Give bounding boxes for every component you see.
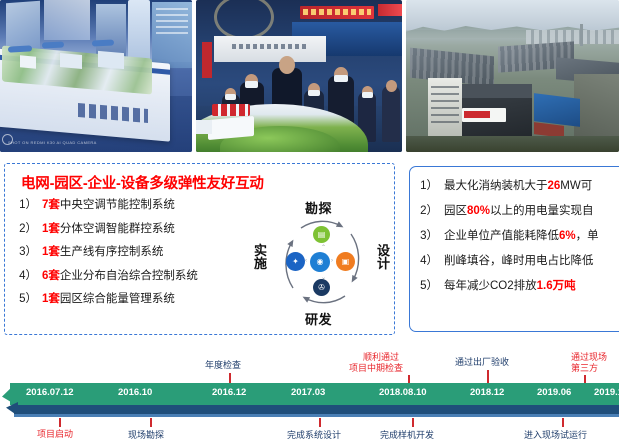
- timeline-below-label: 进入现场试运行: [524, 430, 587, 441]
- photo3-sky: [406, 0, 619, 30]
- briefcase-icon: ▣: [342, 258, 350, 266]
- document-icon: ▤: [318, 231, 326, 239]
- photo3-main-plant-rooftop: [450, 84, 532, 98]
- photo1-label-arm-3: [92, 39, 114, 46]
- list-item-number: 1）: [13, 196, 42, 212]
- hub-icon: ◉: [317, 258, 324, 266]
- photo-aerial-industrial-park: [406, 0, 619, 152]
- photo2-person-3-head: [279, 56, 295, 74]
- list-item-quantity: 7套: [42, 196, 60, 212]
- photo1-watermark-text: SHOT ON REDMI K30 AI QUAD CAMERA: [8, 140, 97, 146]
- list-item: 4） 削峰填谷，峰时用电占比降低: [416, 252, 619, 268]
- list-item: 2） 1套 分体空调智能群控系统: [13, 220, 259, 236]
- timeline-tick-down: [150, 418, 152, 427]
- timeline-tick-up: [487, 370, 489, 383]
- timeline-date: 2016.12: [212, 387, 246, 398]
- photo1-model-building-2: [60, 53, 82, 69]
- photo2-model-tanks: [212, 104, 250, 116]
- list-item: 2） 园区 80% 以上的用电量实现自: [416, 202, 619, 218]
- list-item-text: 中央空调节能控制系统: [60, 196, 175, 212]
- list-item-number: 4）: [13, 267, 42, 283]
- process-cycle-diagram: ▤ ✦ ◉ ▣ ✇ ⌃ ⌄ ‹ › 勘探 设计 研发 实施: [253, 198, 391, 328]
- photo-exhibition-hall-scale-model: SHOT ON REDMI K30 AI QUAD CAMERA: [0, 0, 192, 152]
- cycle-label-develop: 研发: [305, 309, 332, 328]
- cycle-label-survey: 勘探: [305, 198, 332, 217]
- photo1-display-panel-b: [44, 0, 90, 40]
- project-timeline: 2016.07.12 2016.10 2016.12 2017.03 2018.…: [0, 340, 619, 444]
- list-item-highlight: 26: [548, 180, 561, 192]
- left-content-panel: 电网-园区-企业-设备多级弹性友好互动 1） 7套 中央空调节能控制系统 2） …: [4, 163, 395, 335]
- timeline-tick-up: [408, 375, 410, 383]
- list-item-number: 5）: [416, 277, 444, 293]
- timeline-above-label: 顺利通过: [363, 352, 399, 363]
- list-item-quantity: 1套: [42, 220, 60, 236]
- timeline-date: 2019.06: [537, 387, 571, 398]
- photo2-person-5-mask: [334, 75, 348, 82]
- list-item-quantity: 1套: [42, 243, 60, 259]
- gear-icon: ✇: [318, 284, 325, 292]
- timeline-date: 2016.07.12: [26, 387, 74, 398]
- list-item-text-pre: 最大化消纳装机大于: [444, 177, 548, 193]
- photo2-red-banner-text: [303, 9, 371, 15]
- photo2-white-wall: [214, 36, 326, 62]
- list-item-highlight: 1.6万吨: [537, 277, 576, 293]
- photo2-person-7-head: [386, 80, 397, 92]
- timeline-below-label: 项目启动: [37, 429, 73, 440]
- photo2-model-building-2: [196, 120, 212, 134]
- connector-arrow-right: ›: [331, 258, 333, 264]
- timeline-date: 2019.1: [594, 387, 619, 398]
- list-item: 3） 1套 生产线有序控制系统: [13, 243, 259, 259]
- list-item: 5） 1套 园区综合能量管理系统: [13, 290, 259, 306]
- photo2-person-6-mask: [362, 92, 373, 98]
- timeline-tick-down: [562, 418, 564, 427]
- list-item: 5） 每年减少CO2排放 1.6万吨: [416, 277, 619, 293]
- timeline-above-label: 通过现场: [571, 352, 607, 363]
- timeline-tick-up: [229, 373, 231, 383]
- list-item-text: 生产线有序控制系统: [60, 243, 164, 259]
- timeline-above-label-line2: 项目中期检查: [349, 363, 403, 374]
- tool-icon: ✦: [292, 258, 299, 266]
- list-item-text-pre: 每年减少CO2排放: [444, 277, 537, 293]
- develop-node-icon: ✇: [313, 279, 330, 296]
- cycle-label-design: 设计: [377, 244, 390, 270]
- photo2-person-2-mask: [245, 81, 258, 88]
- timeline-tick-down: [59, 418, 61, 427]
- photo3-blue-warehouse: [534, 93, 580, 127]
- list-item: 1） 最大化消纳装机大于 26 MW可: [416, 177, 619, 193]
- photo3-chimney: [580, 24, 583, 46]
- hub-node-icon: ◉: [310, 252, 330, 272]
- list-item-text-post: 以上的用电量实现自: [490, 202, 594, 218]
- list-item-number: 2）: [13, 220, 42, 236]
- list-item-number: 3）: [416, 227, 444, 243]
- timeline-above-label-line2: 第三方: [571, 363, 598, 374]
- list-item-number: 3）: [13, 243, 42, 259]
- timeline-shadow-highlight: [14, 414, 619, 417]
- photo1-info-board-text: [156, 8, 188, 38]
- survey-node-icon: ▤: [313, 226, 330, 243]
- right-content-panel: 1） 最大化消纳装机大于 26 MW可 2） 园区 80% 以上的用电量实现自 …: [409, 166, 619, 332]
- connector-arrow-left: ‹: [305, 258, 307, 264]
- photo2-person-7: [382, 86, 400, 142]
- list-item-number: 1）: [416, 177, 444, 193]
- photo1-label-arm-1: [8, 45, 32, 52]
- photo2-red-panel: [202, 42, 212, 78]
- photo1-model-building-3: [98, 51, 124, 69]
- list-item: 4） 6套 企业分布自治综合控制系统: [13, 267, 259, 283]
- photo2-model-building: [208, 116, 254, 140]
- photo3-access-road: [574, 74, 619, 136]
- list-item-text-post: ，单: [576, 227, 599, 243]
- list-item-highlight: 6%: [559, 230, 576, 242]
- timeline-tick-down: [412, 418, 414, 427]
- timeline-below-label: 现场勘探: [128, 430, 164, 441]
- implement-node-icon: ✦: [286, 252, 305, 271]
- photo3-foreground-vegetation: [406, 136, 619, 152]
- photo-officials-inspecting-exhibit: [196, 0, 402, 152]
- photo2-red-banner-secondary: [378, 4, 402, 16]
- list-item-number: 2）: [416, 202, 444, 218]
- left-panel-list: 1） 7套 中央空调节能控制系统 2） 1套 分体空调智能群控系统 3） 1套 …: [13, 196, 259, 314]
- list-item-text-pre: 园区: [444, 202, 467, 218]
- photo-strip: SHOT ON REDMI K30 AI QUAD CAMERA: [0, 0, 619, 152]
- list-item: 1） 7套 中央空调节能控制系统: [13, 196, 259, 212]
- photo1-label-arm-2: [42, 41, 64, 48]
- list-item: 3） 企业单位产值能耗降低 6% ，单: [416, 227, 619, 243]
- cycle-label-implement: 实施: [254, 244, 267, 270]
- photo2-white-wall-text: [232, 44, 308, 49]
- list-item-text: 企业分布自治综合控制系统: [60, 267, 198, 283]
- left-panel-title: 电网-园区-企业-设备多级弹性友好互动: [21, 172, 264, 193]
- connector-arrow-top: ⌃: [321, 244, 326, 251]
- photo2-person-4-mask: [308, 90, 320, 96]
- timeline-date: 2018.08.10: [379, 387, 427, 398]
- list-item-text: 园区综合能量管理系统: [60, 290, 175, 306]
- list-item-text: 分体空调智能群控系统: [60, 220, 175, 236]
- list-item-number: 4）: [416, 252, 444, 268]
- timeline-above-label: 年度检查: [205, 360, 241, 371]
- design-node-icon: ▣: [336, 252, 355, 271]
- timeline-tick-down: [319, 418, 321, 427]
- list-item-highlight: 80%: [467, 205, 490, 217]
- timeline-below-label: 完成样机开发: [380, 430, 434, 441]
- list-item-text-pre: 企业单位产值能耗降低: [444, 227, 559, 243]
- timeline-date: 2016.10: [118, 387, 152, 398]
- list-item-number: 5）: [13, 290, 42, 306]
- list-item-quantity: 6套: [42, 267, 60, 283]
- list-item-quantity: 1套: [42, 290, 60, 306]
- connector-arrow-bottom: ⌄: [321, 274, 326, 281]
- timeline-tick-up: [584, 375, 586, 383]
- timeline-shadow: [14, 405, 619, 414]
- timeline-above-label: 通过出厂验收: [455, 357, 509, 368]
- timeline-below-label: 完成系统设计: [287, 430, 341, 441]
- list-item-text-post: MW可: [560, 177, 592, 193]
- right-panel-list: 1） 最大化消纳装机大于 26 MW可 2） 园区 80% 以上的用电量实现自 …: [416, 177, 619, 302]
- timeline-date: 2017.03: [291, 387, 325, 398]
- photo3-company-sign-logo: [464, 111, 490, 118]
- list-item-text-pre: 削峰填谷，峰时用电占比降低: [444, 252, 594, 268]
- timeline-date: 2018.12: [470, 387, 504, 398]
- photo2-person-1-mask: [225, 94, 236, 100]
- photo1-model-building-1: [20, 55, 36, 68]
- photo1-display-panel-a: [6, 1, 40, 51]
- photo3-office-windows: [431, 86, 459, 128]
